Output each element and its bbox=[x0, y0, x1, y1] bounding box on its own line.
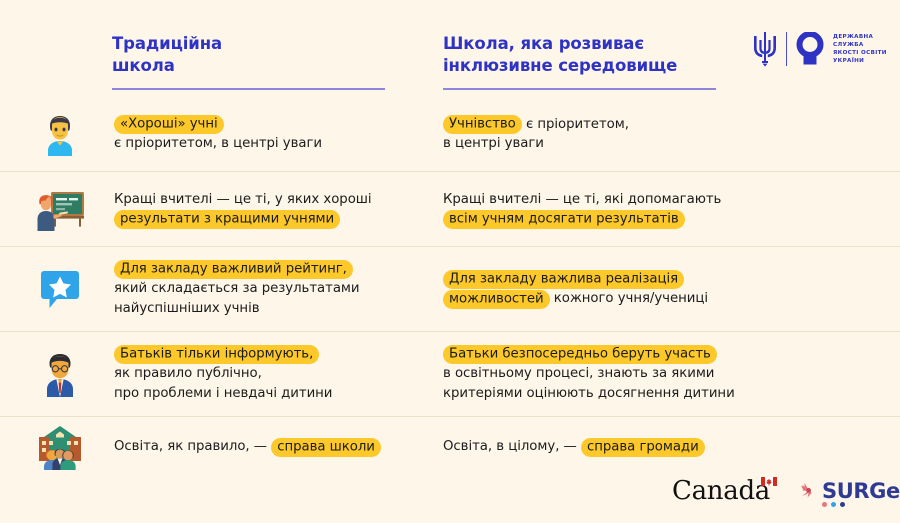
canada-wordmark: Canada bbox=[672, 476, 770, 506]
row-3-inclusive-text: Для закладу важлива реалізація можливост… bbox=[443, 270, 788, 309]
column-header-traditional: Традиційна школа bbox=[112, 33, 412, 77]
parent-avatar-icon bbox=[32, 348, 88, 400]
highlight-phrase: результати з кращими учнями bbox=[114, 210, 340, 229]
highlight-phrase: Батьків тільки інформують, bbox=[114, 345, 319, 364]
row-5-inclusive-text: Освіта, в цілому, — справа громади bbox=[443, 437, 788, 457]
row-3-traditional-text: Для закладу важливий рейтинг, який склад… bbox=[114, 260, 434, 319]
plain-text: критеріями оцінюють досягнення дитини bbox=[443, 384, 788, 404]
column-header-traditional-line1: Традиційна bbox=[112, 33, 412, 55]
plain-text: є пріоритетом, bbox=[522, 117, 629, 132]
student-avatar-icon bbox=[32, 108, 88, 160]
footer-logos: Canada SURGe bbox=[0, 468, 900, 523]
logo-divider bbox=[786, 32, 787, 66]
highlight-phrase: справа громади bbox=[581, 438, 705, 457]
row-4-inclusive-text: Батьки безпосередньо беруть участь в осв… bbox=[443, 345, 788, 404]
comparison-rows: «Хороші» учні є пріоритетом, в центрі ув… bbox=[0, 97, 900, 477]
highlight-phrase: Для закладу важлива реалізація bbox=[443, 270, 684, 289]
plain-text: який складається за результатами bbox=[114, 279, 434, 299]
canada-flag-icon bbox=[761, 477, 777, 486]
trident-icon bbox=[752, 31, 778, 67]
plain-text: про проблеми і невдачі дитини bbox=[114, 384, 434, 404]
table-row: Батьків тільки інформують, як правило пу… bbox=[0, 332, 900, 417]
column-header-inclusive-line1: Школа, яка розвиває bbox=[443, 33, 743, 55]
plain-text: в освітньому процесі, знають за якими bbox=[443, 364, 788, 384]
plain-text: Кращі вчителі — це ті, у яких хороші bbox=[114, 190, 434, 210]
school-community-icon bbox=[32, 421, 88, 473]
teacher-blackboard-icon bbox=[32, 183, 88, 235]
plain-text: Освіта, як правило, — bbox=[114, 439, 271, 454]
highlight-phrase: справа школи bbox=[271, 438, 381, 457]
canada-logo: Canada bbox=[672, 476, 777, 506]
highlight-phrase: Батьки безпосередньо беруть участь bbox=[443, 345, 717, 364]
column-header-rule-left bbox=[112, 88, 385, 90]
plain-text: Освіта, в цілому, — bbox=[443, 439, 581, 454]
plain-text: як правило публічно, bbox=[114, 364, 434, 384]
table-row: Кращі вчителі — це ті, у яких хороші рез… bbox=[0, 172, 900, 247]
header: Традиційна школа Школа, яка розвиває інк… bbox=[0, 0, 900, 100]
surge-wordmark: SURGe bbox=[822, 481, 900, 501]
plain-text: є пріоритетом, в центрі уваги bbox=[114, 134, 434, 154]
infographic-page: Традиційна школа Школа, яка розвиває інк… bbox=[0, 0, 900, 523]
row-1-traditional-text: «Хороші» учні є пріоритетом, в центрі ув… bbox=[114, 115, 434, 154]
row-2-traditional-text: Кращі вчителі — це ті, у яких хороші рез… bbox=[114, 190, 434, 229]
highlight-phrase: Учнівство bbox=[443, 115, 522, 134]
surge-logo: SURGe bbox=[798, 480, 900, 502]
plain-text: в центрі уваги bbox=[443, 134, 788, 154]
government-logo-text: ДЕРЖАВНА СЛУЖБА ЯКОСТІ ОСВІТИ УКРАЇНИ bbox=[833, 33, 887, 66]
gov-logo-line-4: УКРАЇНИ bbox=[833, 57, 887, 65]
plain-text: Кращі вчителі — це ті, які допомагають bbox=[443, 190, 788, 210]
column-header-inclusive-line2: інклюзивне середовище bbox=[443, 55, 743, 77]
row-2-inclusive-text: Кращі вчителі — це ті, які допомагають в… bbox=[443, 190, 788, 229]
row-5-traditional-text: Освіта, як правило, — справа школи bbox=[114, 437, 434, 457]
plain-text: кожного учня/учениці bbox=[550, 291, 708, 306]
highlight-phrase: всім учням досягати результатів bbox=[443, 210, 685, 229]
column-header-traditional-line2: школа bbox=[112, 55, 412, 77]
table-row: Для закладу важливий рейтинг, який склад… bbox=[0, 247, 900, 332]
table-row: «Хороші» учні є пріоритетом, в центрі ув… bbox=[0, 97, 900, 172]
row-1-inclusive-text: Учнівство є пріоритетом, в центрі уваги bbox=[443, 115, 788, 154]
surge-dots bbox=[822, 502, 845, 507]
highlight-phrase: «Хороші» учні bbox=[114, 115, 224, 134]
column-header-inclusive: Школа, яка розвиває інклюзивне середовищ… bbox=[443, 33, 743, 77]
plain-text: найуспішніших учнів bbox=[114, 299, 434, 319]
surge-flower-icon bbox=[798, 480, 820, 502]
star-badge-icon bbox=[32, 263, 88, 315]
gov-logo-line-2: СЛУЖБА bbox=[833, 41, 887, 49]
highlight-phrase: Для закладу важливий рейтинг, bbox=[114, 260, 353, 279]
highlight-phrase: можливостей bbox=[443, 290, 550, 309]
government-logo: ДЕРЖАВНА СЛУЖБА ЯКОСТІ ОСВІТИ УКРАЇНИ bbox=[752, 31, 887, 67]
column-header-rule-right bbox=[443, 88, 716, 90]
gov-logo-line-3: ЯКОСТІ ОСВІТИ bbox=[833, 49, 887, 57]
row-4-traditional-text: Батьків тільки інформують, як правило пу… bbox=[114, 345, 434, 404]
gov-logo-line-1: ДЕРЖАВНА bbox=[833, 33, 887, 41]
dsyao-circle-icon bbox=[795, 32, 825, 66]
